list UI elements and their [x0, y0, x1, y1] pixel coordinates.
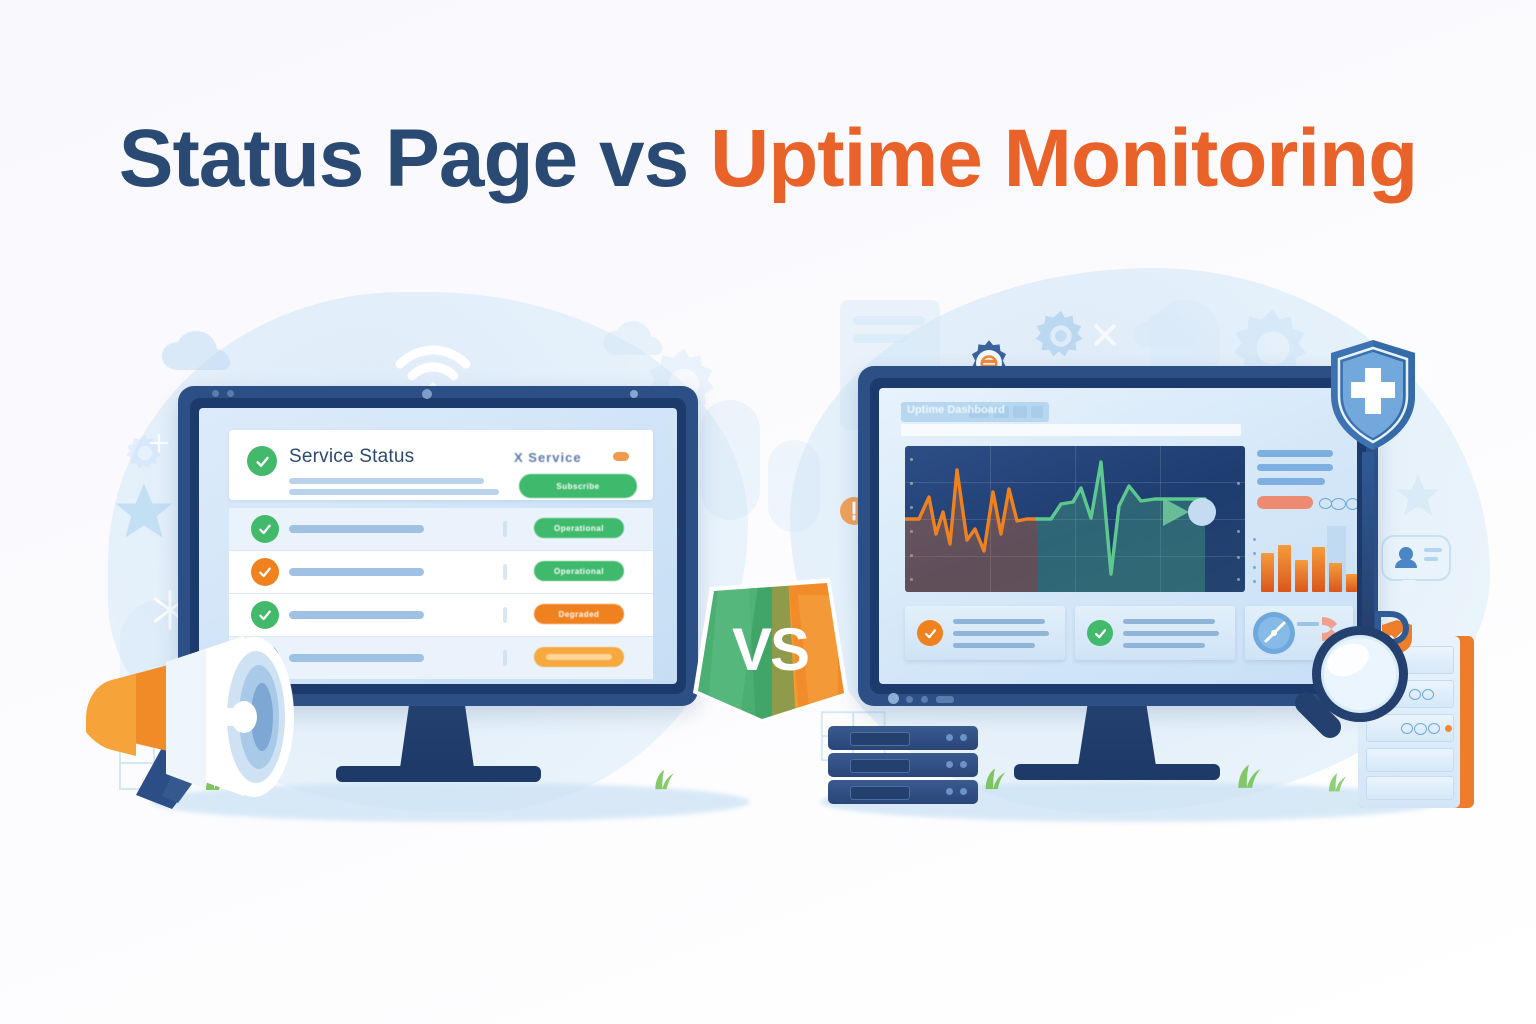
service-row-meta-2 — [503, 564, 507, 580]
service-row-label-1 — [289, 525, 424, 533]
status-badge: Operational — [534, 518, 624, 538]
bar-6 — [1346, 574, 1357, 592]
page-title-part2: vs — [599, 113, 688, 204]
vs-badge: VS VS — [688, 575, 853, 725]
bar-2 — [1278, 545, 1291, 592]
cloud-icon-4 — [1130, 310, 1212, 354]
user-badge-icon — [1380, 534, 1452, 597]
sidebar-line-3 — [1257, 478, 1325, 485]
dashboard-header-underbar — [901, 424, 1241, 436]
check-green-icon — [247, 446, 277, 476]
sparkle-icon — [1090, 320, 1120, 350]
illustration-canvas: Status Page vs Uptime Monitoring — [0, 0, 1536, 1024]
metric-card-1[interactable] — [905, 606, 1065, 660]
sidebar-ring-2 — [1331, 498, 1346, 510]
sparkle-icon-2 — [148, 432, 170, 454]
service-row-1[interactable]: Operational — [229, 508, 653, 550]
star-icon-3 — [1390, 470, 1446, 522]
shield-pole — [1362, 452, 1374, 632]
sidebar-line-2 — [1257, 464, 1333, 471]
service-row-meta-4 — [503, 650, 507, 666]
page-title: Status Page vs Uptime Monitoring — [0, 118, 1536, 200]
service-row-label-3 — [289, 611, 424, 619]
gear-icon — [1030, 305, 1092, 367]
left-monitor-led — [630, 390, 638, 398]
left-monitor-bezel-dots — [212, 390, 234, 397]
right-monitor-bezel-dots — [906, 696, 954, 703]
check-orange-icon — [917, 620, 943, 646]
check-green-icon — [251, 515, 279, 543]
check-orange-icon — [251, 558, 279, 586]
service-status-header-card: Service Status X Service Subscribe — [229, 430, 653, 500]
dashboard-header-text: Uptime Dashboard — [907, 404, 1005, 416]
service-brand-text: X Service — [514, 450, 582, 465]
header-line-1 — [289, 478, 484, 484]
subscribe-button[interactable]: Subscribe — [519, 474, 637, 498]
grass-icon-5 — [1324, 766, 1352, 797]
service-row-label-2 — [289, 568, 424, 576]
service-row-2[interactable]: Operational — [229, 551, 653, 593]
service-row-meta-1 — [503, 521, 507, 537]
page-title-part3: Uptime Monitoring — [710, 113, 1417, 204]
grass-icon-2 — [650, 762, 680, 795]
service-row-meta-3 — [503, 607, 507, 623]
right-monitor-stand-neck — [1078, 706, 1156, 766]
left-monitor-stand-base — [336, 766, 541, 782]
brand-accent-icon — [613, 452, 629, 461]
metric-card-2[interactable] — [1075, 606, 1235, 660]
left-monitor-stand-neck — [400, 706, 474, 768]
status-badge: Degraded — [534, 604, 624, 624]
bar-1 — [1261, 553, 1274, 592]
sidebar-bar-chart — [1251, 520, 1357, 592]
check-green-icon — [251, 601, 279, 629]
rack-row-5 — [1366, 776, 1454, 800]
svg-text:VS: VS — [732, 616, 808, 683]
right-monitor-camera — [888, 693, 899, 704]
shield-cross-icon — [1327, 338, 1419, 453]
sidebar-status-pill — [1257, 496, 1313, 509]
bar-4 — [1312, 547, 1325, 592]
megaphone-icon — [62, 628, 322, 813]
status-badge — [534, 647, 624, 667]
service-status-title: Service Status — [289, 446, 414, 468]
magnifier-icon — [1288, 618, 1418, 758]
page-title-part1: Status Page — [119, 113, 577, 204]
status-badge: Operational — [534, 561, 624, 581]
check-green-icon — [1087, 620, 1113, 646]
dashboard-header-bar: Uptime Dashboard — [901, 402, 1049, 422]
deco-rect-4 — [853, 316, 925, 325]
server-stack-icon — [828, 726, 1004, 808]
right-monitor-stand-base — [1014, 764, 1220, 780]
star-icon — [108, 478, 180, 546]
left-monitor-camera — [422, 389, 432, 399]
bar-3 — [1295, 560, 1308, 592]
cloud-icon — [158, 330, 248, 378]
bar-5 — [1329, 563, 1342, 592]
deco-rect-5 — [853, 334, 908, 343]
grass-icon-4 — [1232, 756, 1268, 793]
uptime-dashboard-screen: Uptime Dashboard — [879, 388, 1357, 684]
response-time-chart — [905, 446, 1245, 592]
sidebar-ring-3 — [1346, 498, 1357, 510]
deco-rect-2 — [768, 440, 820, 532]
sidebar-line-1 — [1257, 450, 1333, 457]
header-line-2 — [289, 489, 499, 495]
